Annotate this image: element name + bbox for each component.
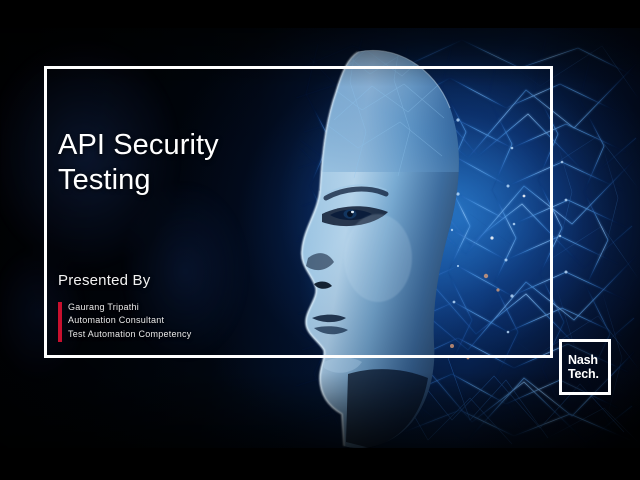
letterbox-top <box>0 0 640 28</box>
presenter-details: Gaurang Tripathi Automation Consultant T… <box>58 301 328 341</box>
vignette-overlay <box>0 28 640 448</box>
presenter-block: Presented By Gaurang Tripathi Automation… <box>58 272 328 341</box>
title-block: API Security Testing <box>58 128 318 199</box>
slide-canvas <box>0 28 640 448</box>
presented-by-label: Presented By <box>58 272 328 289</box>
slide-title: API Security Testing <box>58 128 318 199</box>
presentation-slide: API Security Testing Presented By Gauran… <box>0 0 640 480</box>
presenter-name: Gaurang Tripathi <box>68 301 328 314</box>
brand-line-2: Tech. <box>568 367 608 382</box>
accent-bar <box>58 302 62 342</box>
presenter-team: Test Automation Competency <box>68 328 328 341</box>
presenter-role: Automation Consultant <box>68 314 328 327</box>
letterbox-bottom <box>0 448 640 480</box>
brand-line-1: Nash <box>568 353 608 368</box>
nashtech-logo: Nash Tech. <box>559 339 611 395</box>
